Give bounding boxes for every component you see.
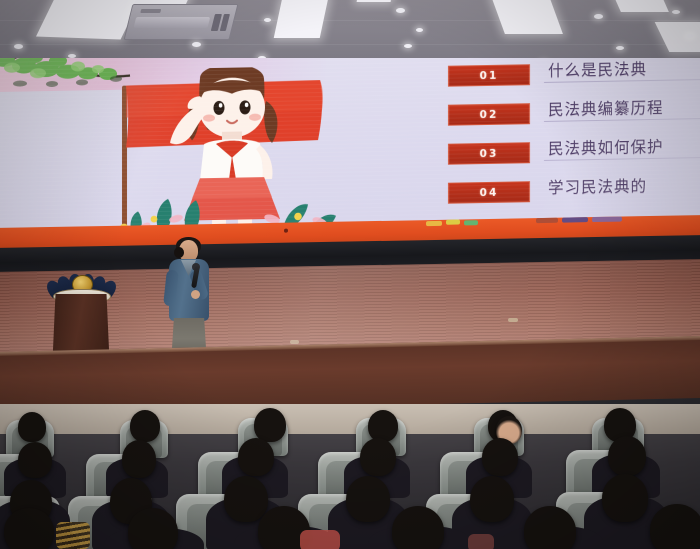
audience-clothing	[56, 522, 90, 549]
presenter-hair-bun	[174, 247, 184, 258]
ceiling-downlight	[616, 46, 624, 50]
ceiling-downlight	[672, 10, 680, 14]
ceiling-panel-light	[491, 0, 563, 34]
ceiling-downlight	[594, 14, 603, 19]
agenda-list: 01 什么是民法典 02 民法典编纂历程 03 民法典如何保护 04 学习民法典…	[448, 58, 700, 216]
audience-head	[130, 410, 160, 442]
auditorium-photo: 01 什么是民法典 02 民法典编纂历程 03 民法典如何保护 04 学习民法典…	[0, 0, 700, 549]
agenda-item-label: 学习民法典的	[548, 172, 700, 198]
audience-head	[524, 506, 576, 549]
ceiling-panel-light	[274, 0, 329, 38]
agenda-item[interactable]: 04 学习民法典的	[448, 172, 700, 216]
agenda-item-label: 民法典编纂历程	[548, 94, 700, 120]
audience-head	[224, 476, 268, 522]
stage-prop	[508, 318, 518, 322]
ceiling-downlight	[416, 28, 423, 32]
audience-clothing	[300, 530, 340, 549]
audience-head	[482, 438, 518, 476]
agenda-number-badge: 03	[448, 142, 530, 165]
audience-head	[18, 412, 46, 442]
agenda-number-badge: 04	[448, 181, 530, 204]
agenda-item[interactable]: 02 民法典编纂历程	[448, 94, 700, 138]
ceiling-downlight	[396, 8, 405, 13]
ceiling-downlight	[686, 34, 694, 38]
air-conditioner-vent	[124, 4, 239, 40]
audience-clothing	[468, 534, 494, 549]
agenda-item[interactable]: 03 民法典如何保护	[448, 133, 700, 177]
agenda-item[interactable]: 01 什么是民法典	[448, 58, 700, 99]
audience-head	[254, 408, 286, 442]
agenda-item-label: 什么是民法典	[548, 58, 700, 81]
audience-head	[238, 438, 274, 476]
audience	[0, 404, 700, 549]
ceiling-downlight	[404, 44, 412, 48]
audience-head	[470, 476, 514, 522]
audience-head	[122, 440, 156, 478]
audience-head	[128, 508, 178, 549]
agenda-number-badge: 01	[448, 64, 530, 87]
ceiling-downlight	[14, 44, 23, 49]
audience-head	[18, 442, 52, 478]
audience-head	[608, 436, 646, 476]
agenda-number-badge: 02	[448, 103, 530, 126]
audience-head	[650, 504, 700, 549]
ceiling-panel-light	[357, 0, 394, 2]
agenda-item-label: 民法典如何保护	[548, 133, 700, 159]
audience-head	[346, 476, 390, 522]
ceiling-downlight	[264, 18, 271, 22]
audience-head	[360, 438, 396, 476]
ceiling-panel-light	[611, 0, 669, 12]
audience-head	[368, 410, 398, 442]
stage-prop	[290, 340, 299, 344]
ceiling-downlight	[192, 42, 201, 47]
audience-head	[602, 474, 648, 522]
audience-head	[4, 508, 54, 549]
audience-head	[392, 506, 444, 549]
